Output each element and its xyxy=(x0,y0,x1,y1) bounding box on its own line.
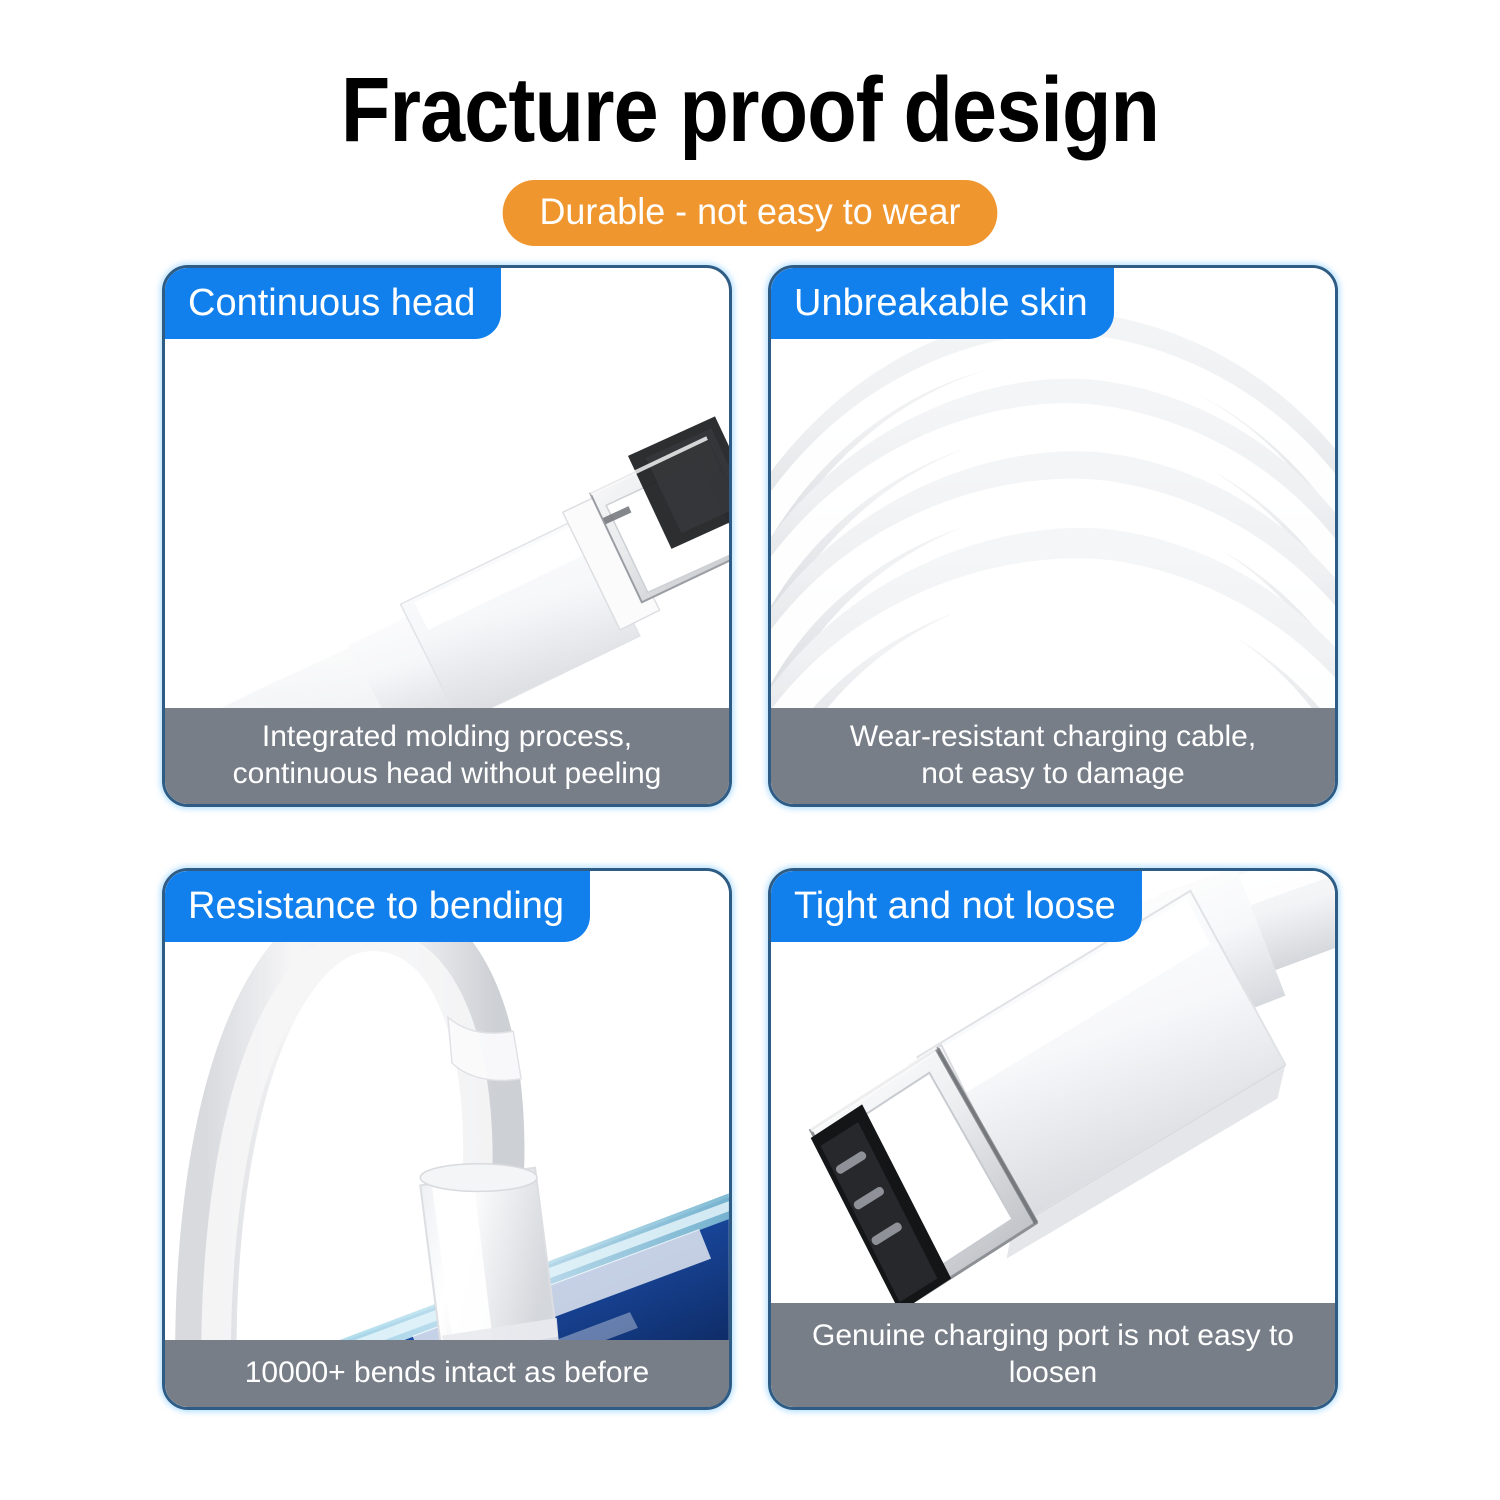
feature-card-continuous-head: Continuous head Integrated molding proce… xyxy=(162,265,732,807)
caption-line-1: Integrated molding process, xyxy=(175,718,719,755)
card-caption: Integrated molding process, continuous h… xyxy=(165,708,729,804)
caption-line-1: Genuine charging port is not easy to loo… xyxy=(781,1317,1325,1391)
card-caption: Wear-resistant charging cable, not easy … xyxy=(771,708,1335,804)
feature-card-resistance-to-bending: Resistance to bending 10000+ bends intac… xyxy=(162,868,732,1410)
caption-line-1: 10000+ bends intact as before xyxy=(175,1354,719,1391)
feature-card-grid: Continuous head Integrated molding proce… xyxy=(162,265,1338,1445)
caption-line-2: not easy to damage xyxy=(781,755,1325,792)
subtitle-badge: Durable - not easy to wear xyxy=(503,180,998,246)
card-caption: Genuine charging port is not easy to loo… xyxy=(771,1303,1335,1407)
card-tab-label: Unbreakable skin xyxy=(770,267,1114,339)
feature-card-unbreakable-skin: Unbreakable skin Wear-resistant charging… xyxy=(768,265,1338,807)
feature-card-tight-and-not-loose: Tight and not loose Genuine charging por… xyxy=(768,868,1338,1410)
page-title: Fracture proof design xyxy=(90,62,1410,158)
card-tab-label: Continuous head xyxy=(164,267,501,339)
bent-cable-into-phone-illustration xyxy=(165,871,729,1407)
card-tab-label: Tight and not loose xyxy=(770,870,1142,942)
card-tab-label: Resistance to bending xyxy=(164,870,590,942)
caption-line-2: continuous head without peeling xyxy=(175,755,719,792)
subtitle-container: Durable - not easy to wear xyxy=(0,180,1500,246)
card-caption: 10000+ bends intact as before xyxy=(165,1340,729,1407)
caption-line-1: Wear-resistant charging cable, xyxy=(781,718,1325,755)
